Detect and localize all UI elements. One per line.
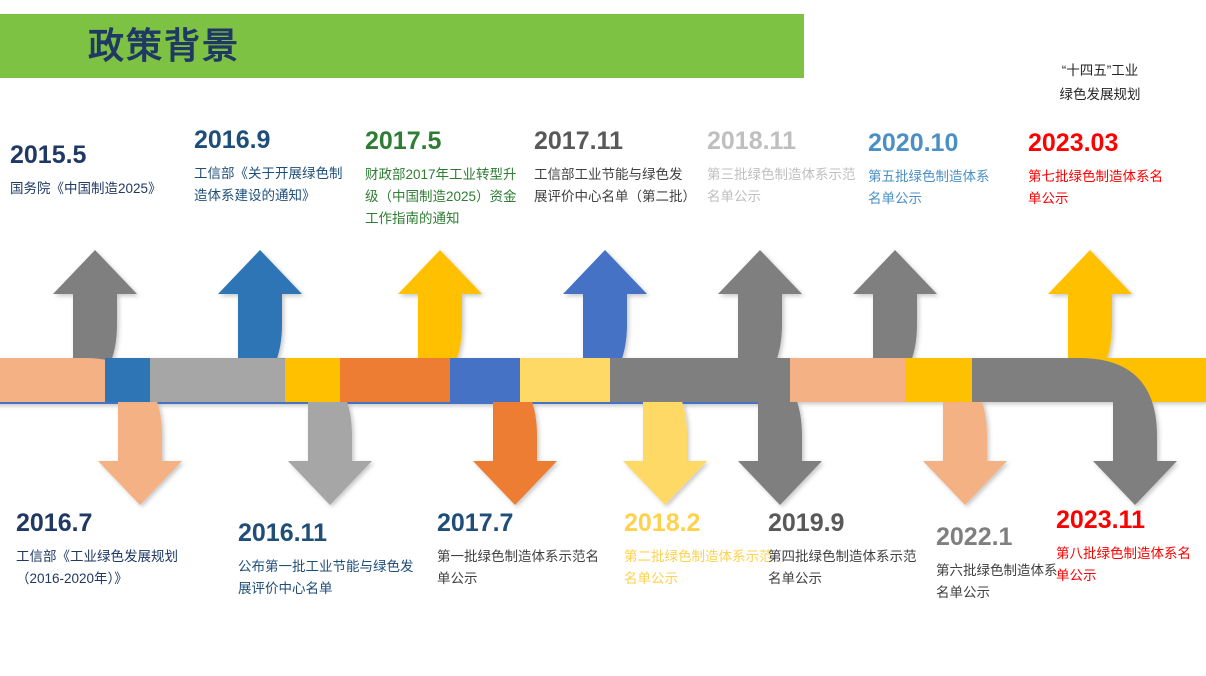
timeline-event-2018.11: 2018.11第三批绿色制造体系示范名单公示	[707, 126, 867, 208]
timeline-event-2023.03: 2023.03第七批绿色制造体系名单公示	[1028, 128, 1168, 210]
event-year: 2017.7	[437, 508, 607, 538]
timeline-event-2017.11: 2017.11工信部工业节能与绿色发展评价中心名单（第二批）	[534, 126, 694, 208]
event-year: 2016.11	[238, 518, 418, 548]
event-description: 第四批绿色制造体系示范名单公示	[768, 546, 928, 590]
timeline-event-2018.2: 2018.2第二批绿色制造体系示范名单公示	[624, 508, 784, 590]
timeline-event-2016.9: 2016.9工信部《关于开展绿色制造体系建设的通知》	[194, 125, 354, 207]
event-description: 第六批绿色制造体系名单公示	[936, 560, 1061, 604]
event-year: 2023.03	[1028, 128, 1168, 158]
event-year: 2018.2	[624, 508, 784, 538]
event-year: 2018.11	[707, 126, 867, 156]
event-description: 第八批绿色制造体系名单公示	[1056, 543, 1191, 587]
event-description: 第五批绿色制造体系名单公示	[868, 166, 993, 210]
timeline-event-2016.11: 2016.11公布第一批工业节能与绿色发展评价中心名单	[238, 518, 418, 600]
event-year: 2023.11	[1056, 505, 1191, 535]
timeline-event-2015.5: 2015.5国务院《中国制造2025》	[10, 140, 210, 200]
timeline-event-2017.5: 2017.5财政部2017年工业转型升级（中国制造2025）资金工作指南的通知	[365, 126, 525, 230]
event-year: 2017.11	[534, 126, 694, 156]
event-year: 2022.1	[936, 522, 1061, 552]
event-year: 2016.7	[16, 508, 191, 538]
event-description: 第一批绿色制造体系示范名单公示	[437, 546, 607, 590]
event-description: 第二批绿色制造体系示范名单公示	[624, 546, 784, 590]
event-description: 工信部《工业绿色发展规划（2016-2020年）》	[16, 546, 191, 590]
timeline-event-2022.1: 2022.1第六批绿色制造体系名单公示	[936, 522, 1061, 604]
event-year: 2020.10	[868, 128, 993, 158]
timeline-event-2020.10: 2020.10第五批绿色制造体系名单公示	[868, 128, 993, 210]
event-description: 财政部2017年工业转型升级（中国制造2025）资金工作指南的通知	[365, 164, 525, 230]
event-year: 2015.5	[10, 140, 210, 170]
event-description: 公布第一批工业节能与绿色发展评价中心名单	[238, 556, 418, 600]
event-year: 2017.5	[365, 126, 525, 156]
event-year: 2019.9	[768, 508, 928, 538]
event-year: 2016.9	[194, 125, 354, 155]
timeline-event-2016.7: 2016.7工信部《工业绿色发展规划（2016-2020年）》	[16, 508, 191, 590]
event-description: 第七批绿色制造体系名单公示	[1028, 166, 1168, 210]
timeline-event-2017.7: 2017.7第一批绿色制造体系示范名单公示	[437, 508, 607, 590]
event-description: 工信部工业节能与绿色发展评价中心名单（第二批）	[534, 164, 694, 208]
event-description: 第三批绿色制造体系示范名单公示	[707, 164, 867, 208]
timeline-infographic: 政策背景 “十四五”工业 绿色发展规划 2015.5国务院《中国制造2025》2…	[0, 0, 1206, 676]
event-description: 国务院《中国制造2025》	[10, 178, 210, 200]
event-description: 工信部《关于开展绿色制造体系建设的通知》	[194, 163, 354, 207]
timeline-event-2023.11: 2023.11第八批绿色制造体系名单公示	[1056, 505, 1191, 587]
timeline-event-2019.9: 2019.9第四批绿色制造体系示范名单公示	[768, 508, 928, 590]
